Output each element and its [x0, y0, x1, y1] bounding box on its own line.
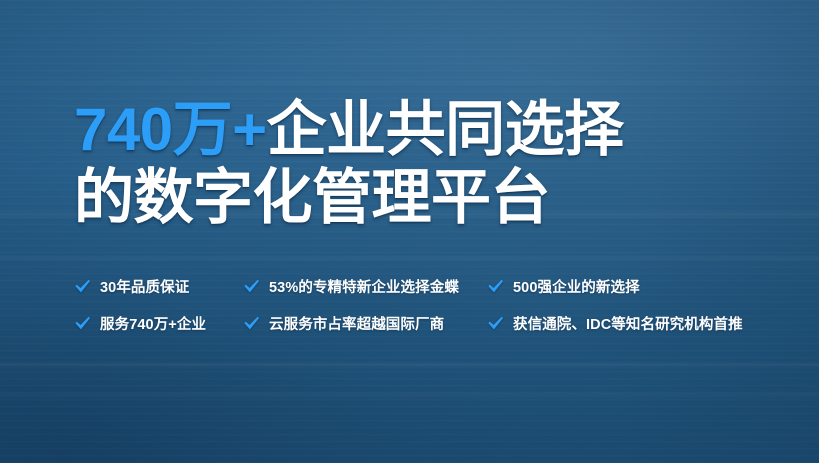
feature-item-2: 53%的专精特新企业选择金蝶 — [243, 276, 487, 297]
check-icon — [487, 278, 504, 295]
feature-item-1: 30年品质保证 — [74, 276, 243, 297]
feature-label: 服务740万+企业 — [100, 313, 206, 334]
feature-label: 53%的专精特新企业选择金蝶 — [269, 276, 459, 297]
headline-accent-count: 740万+ — [74, 96, 267, 163]
headline-block: 740万+企业共同选择 的数字化管理平台 — [74, 96, 774, 232]
headline-line-1-text: 企业共同选择 — [267, 96, 624, 163]
feature-label: 获信通院、IDC等知名研究机构首推 — [513, 313, 743, 334]
feature-item-4: 服务740万+企业 — [74, 313, 243, 334]
check-icon — [243, 315, 260, 332]
feature-list: 30年品质保证 53%的专精特新企业选择金蝶 500强企业的新选择 服务740万… — [74, 268, 774, 342]
feature-label: 云服务市占率超越国际厂商 — [269, 313, 444, 334]
check-icon — [243, 278, 260, 295]
check-icon — [74, 278, 91, 295]
feature-item-3: 500强企业的新选择 — [487, 276, 774, 297]
feature-label: 500强企业的新选择 — [513, 276, 640, 297]
headline-line-2: 的数字化管理平台 — [74, 164, 774, 232]
feature-item-6: 获信通院、IDC等知名研究机构首推 — [487, 313, 774, 334]
feature-label: 30年品质保证 — [100, 276, 189, 297]
headline-line-1: 740万+企业共同选择 — [74, 96, 774, 164]
feature-item-5: 云服务市占率超越国际厂商 — [243, 313, 487, 334]
check-icon — [487, 315, 504, 332]
check-icon — [74, 315, 91, 332]
promo-banner: 740万+企业共同选择 的数字化管理平台 30年品质保证 53%的专精特新企业选… — [0, 0, 819, 463]
